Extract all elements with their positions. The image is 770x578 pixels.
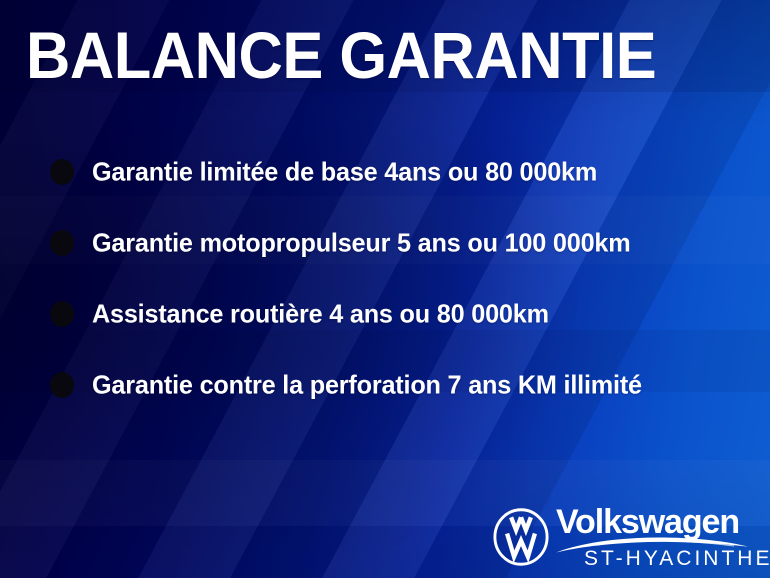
brand-lockup: Volkswagen ST-HYACINTHE — [554, 503, 754, 571]
list-item: Garantie motopropulseur 5 ans ou 100 000… — [0, 207, 770, 278]
list-item: Assistance routière 4 ans ou 80 000km — [0, 278, 770, 349]
list-item-label: Garantie motopropulseur 5 ans ou 100 000… — [92, 227, 630, 258]
list-item: Garantie contre la perforation 7 ans KM … — [0, 349, 770, 420]
bullet-dot-icon — [50, 159, 74, 185]
dealer-name: ST-HYACINTHE — [584, 547, 770, 571]
list-item: Garantie limitée de base 4ans ou 80 000k… — [0, 136, 770, 207]
list-item-label: Assistance routière 4 ans ou 80 000km — [92, 298, 549, 329]
page-title: BALANCE GARANTIE — [26, 20, 656, 90]
bullet-dot-icon — [50, 372, 74, 398]
list-item-label: Garantie limitée de base 4ans ou 80 000k… — [92, 156, 597, 187]
dealer-logo: Volkswagen ST-HYACINTHE — [492, 503, 754, 571]
volkswagen-logo-icon — [492, 508, 550, 566]
bullet-dot-icon — [50, 230, 74, 256]
list-item-label: Garantie contre la perforation 7 ans KM … — [92, 369, 642, 400]
bullet-dot-icon — [50, 301, 74, 327]
promo-poster: BALANCE GARANTIE Garantie limitée de bas… — [0, 0, 770, 578]
feature-list: Garantie limitée de base 4ans ou 80 000k… — [0, 136, 770, 420]
